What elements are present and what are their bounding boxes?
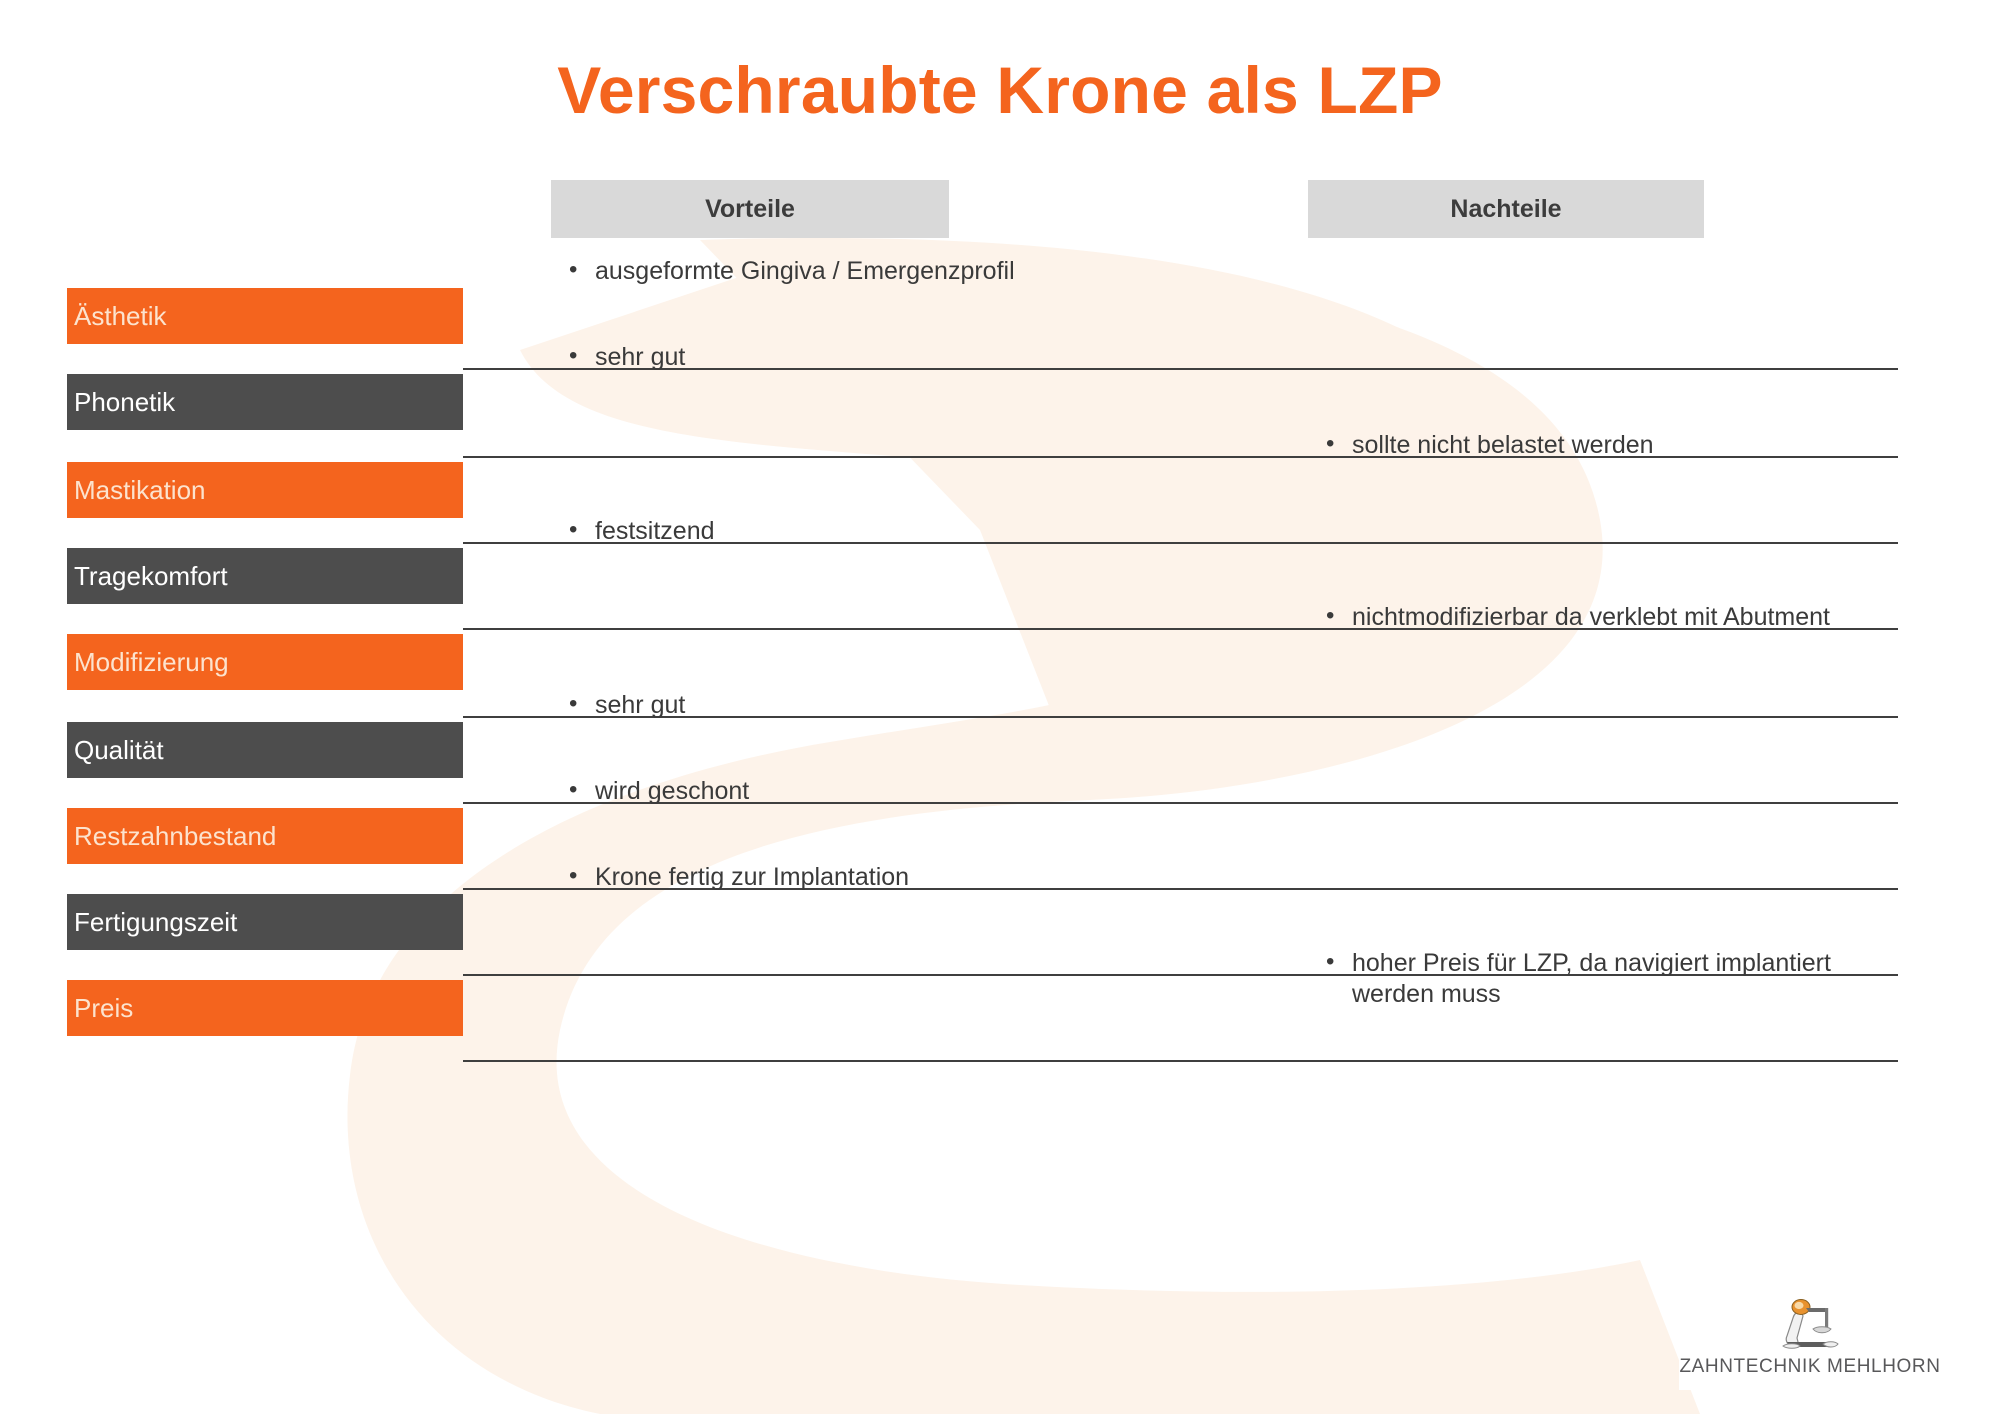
page-title: Verschraubte Krone als LZP (0, 52, 2000, 128)
slide-canvas: Verschraubte Krone als LZP Vorteile Nach… (0, 0, 2000, 1414)
row-label-text: Restzahnbestand (74, 822, 276, 851)
cell-vorteile: sehr gut (563, 342, 1263, 373)
logo-text: ZAHNTECHNIK MEHLHORN (1679, 1356, 1940, 1378)
row-label-text: Fertigungszeit (74, 908, 237, 937)
cell-vorteile: festsitzend (563, 516, 1263, 547)
row-label-text: Tragekomfort (74, 562, 228, 591)
row-label-tragekomfort: Tragekomfort (67, 548, 463, 604)
cell-vorteile: wird geschont (563, 776, 1263, 807)
bullet-item: hoher Preis für LZP, da navigiert implan… (1320, 948, 1900, 1009)
row-label-modifizierung: Modifizierung (67, 634, 463, 690)
row-label-restzahnbestand: Restzahnbestand (67, 808, 463, 864)
bullet-item: sehr gut (563, 342, 1263, 373)
row-label-text: Mastikation (74, 476, 206, 505)
row-label-fertigungszeit: Fertigungszeit (67, 894, 463, 950)
row-label-qualit-t: Qualität (67, 722, 463, 778)
bullet-item: wird geschont (563, 776, 1263, 807)
cell-nachteile: nichtmodifizierbar da verklebt mit Abutm… (1320, 602, 1900, 633)
row-label-text: Ästhetik (74, 302, 167, 331)
bullet-item: ausgeformte Gingiva / Emergenzprofil (563, 256, 1263, 287)
dental-articulator-icon (1773, 1298, 1847, 1354)
cell-nachteile: sollte nicht belastet werden (1320, 430, 1900, 461)
row-label-text: Qualität (74, 736, 164, 765)
row-label-text: Preis (74, 994, 133, 1023)
cell-vorteile: sehr gut (563, 690, 1263, 721)
row-label-phonetik: Phonetik (67, 374, 463, 430)
row-divider (463, 1060, 1898, 1062)
column-header-nachteile: Nachteile (1308, 180, 1704, 238)
bullet-item: festsitzend (563, 516, 1263, 547)
row-label-preis: Preis (67, 980, 463, 1036)
bullet-item: sollte nicht belastet werden (1320, 430, 1900, 461)
bullet-item: nichtmodifizierbar da verklebt mit Abutm… (1320, 602, 1900, 633)
cell-vorteile: Krone fertig zur Implantation (563, 862, 1263, 893)
bullet-item: Krone fertig zur Implantation (563, 862, 1263, 893)
row-label--sthetik: Ästhetik (67, 288, 463, 344)
row-label-mastikation: Mastikation (67, 462, 463, 518)
company-logo: ZAHNTECHNIK MEHLHORN (1679, 1298, 1941, 1390)
cell-nachteile: hoher Preis für LZP, da navigiert implan… (1320, 948, 1900, 1009)
row-label-text: Phonetik (74, 388, 175, 417)
cell-vorteile: ausgeformte Gingiva / Emergenzprofil (563, 256, 1263, 287)
row-label-text: Modifizierung (74, 648, 229, 677)
column-header-vorteile: Vorteile (551, 180, 949, 238)
bullet-item: sehr gut (563, 690, 1263, 721)
